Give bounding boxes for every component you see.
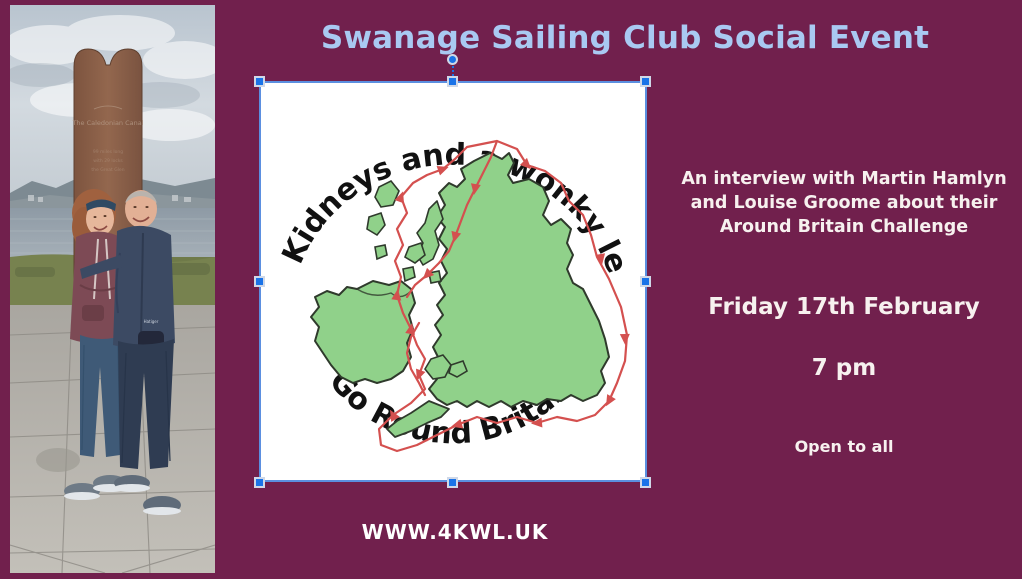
- handle-middle-right[interactable]: [640, 276, 651, 287]
- event-date: Friday 17th February: [668, 294, 1020, 320]
- svg-text:the Great Glen: the Great Glen: [91, 167, 124, 173]
- svg-text:Hatiger: Hatiger: [144, 319, 159, 324]
- page-title: Swanage Sailing Club Social Event: [240, 20, 1010, 56]
- website-url[interactable]: WWW.4KWL.UK: [240, 520, 670, 544]
- handle-bottom-right[interactable]: [640, 477, 651, 488]
- svg-text:with 29 locks: with 29 locks: [93, 158, 123, 164]
- logo-image-object[interactable]: 4 Kidneys and a wonky leg Go Round Brita…: [261, 83, 645, 480]
- event-time: 7 pm: [668, 355, 1020, 381]
- event-description: An interview with Martin Hamlyn and Loui…: [668, 167, 1020, 239]
- handle-top-center[interactable]: [447, 76, 458, 87]
- go-round-britain-logo: 4 Kidneys and a wonky leg Go Round Brita…: [261, 83, 645, 480]
- rotate-handle[interactable]: [447, 54, 458, 65]
- svg-text:The Caledonian Canal: The Caledonian Canal: [71, 119, 143, 127]
- photo-image: The Caledonian Canal 99 miles long with …: [10, 5, 215, 573]
- event-photo[interactable]: The Caledonian Canal 99 miles long with …: [10, 5, 215, 573]
- presentation-slide: The Caledonian Canal 99 miles long with …: [0, 0, 1022, 579]
- open-to-all-note: Open to all: [668, 437, 1020, 456]
- handle-middle-left[interactable]: [254, 276, 265, 287]
- svg-text:99 miles long: 99 miles long: [93, 149, 123, 155]
- handle-top-left[interactable]: [254, 76, 265, 87]
- handle-bottom-center[interactable]: [447, 477, 458, 488]
- handle-top-right[interactable]: [640, 76, 651, 87]
- handle-bottom-left[interactable]: [254, 477, 265, 488]
